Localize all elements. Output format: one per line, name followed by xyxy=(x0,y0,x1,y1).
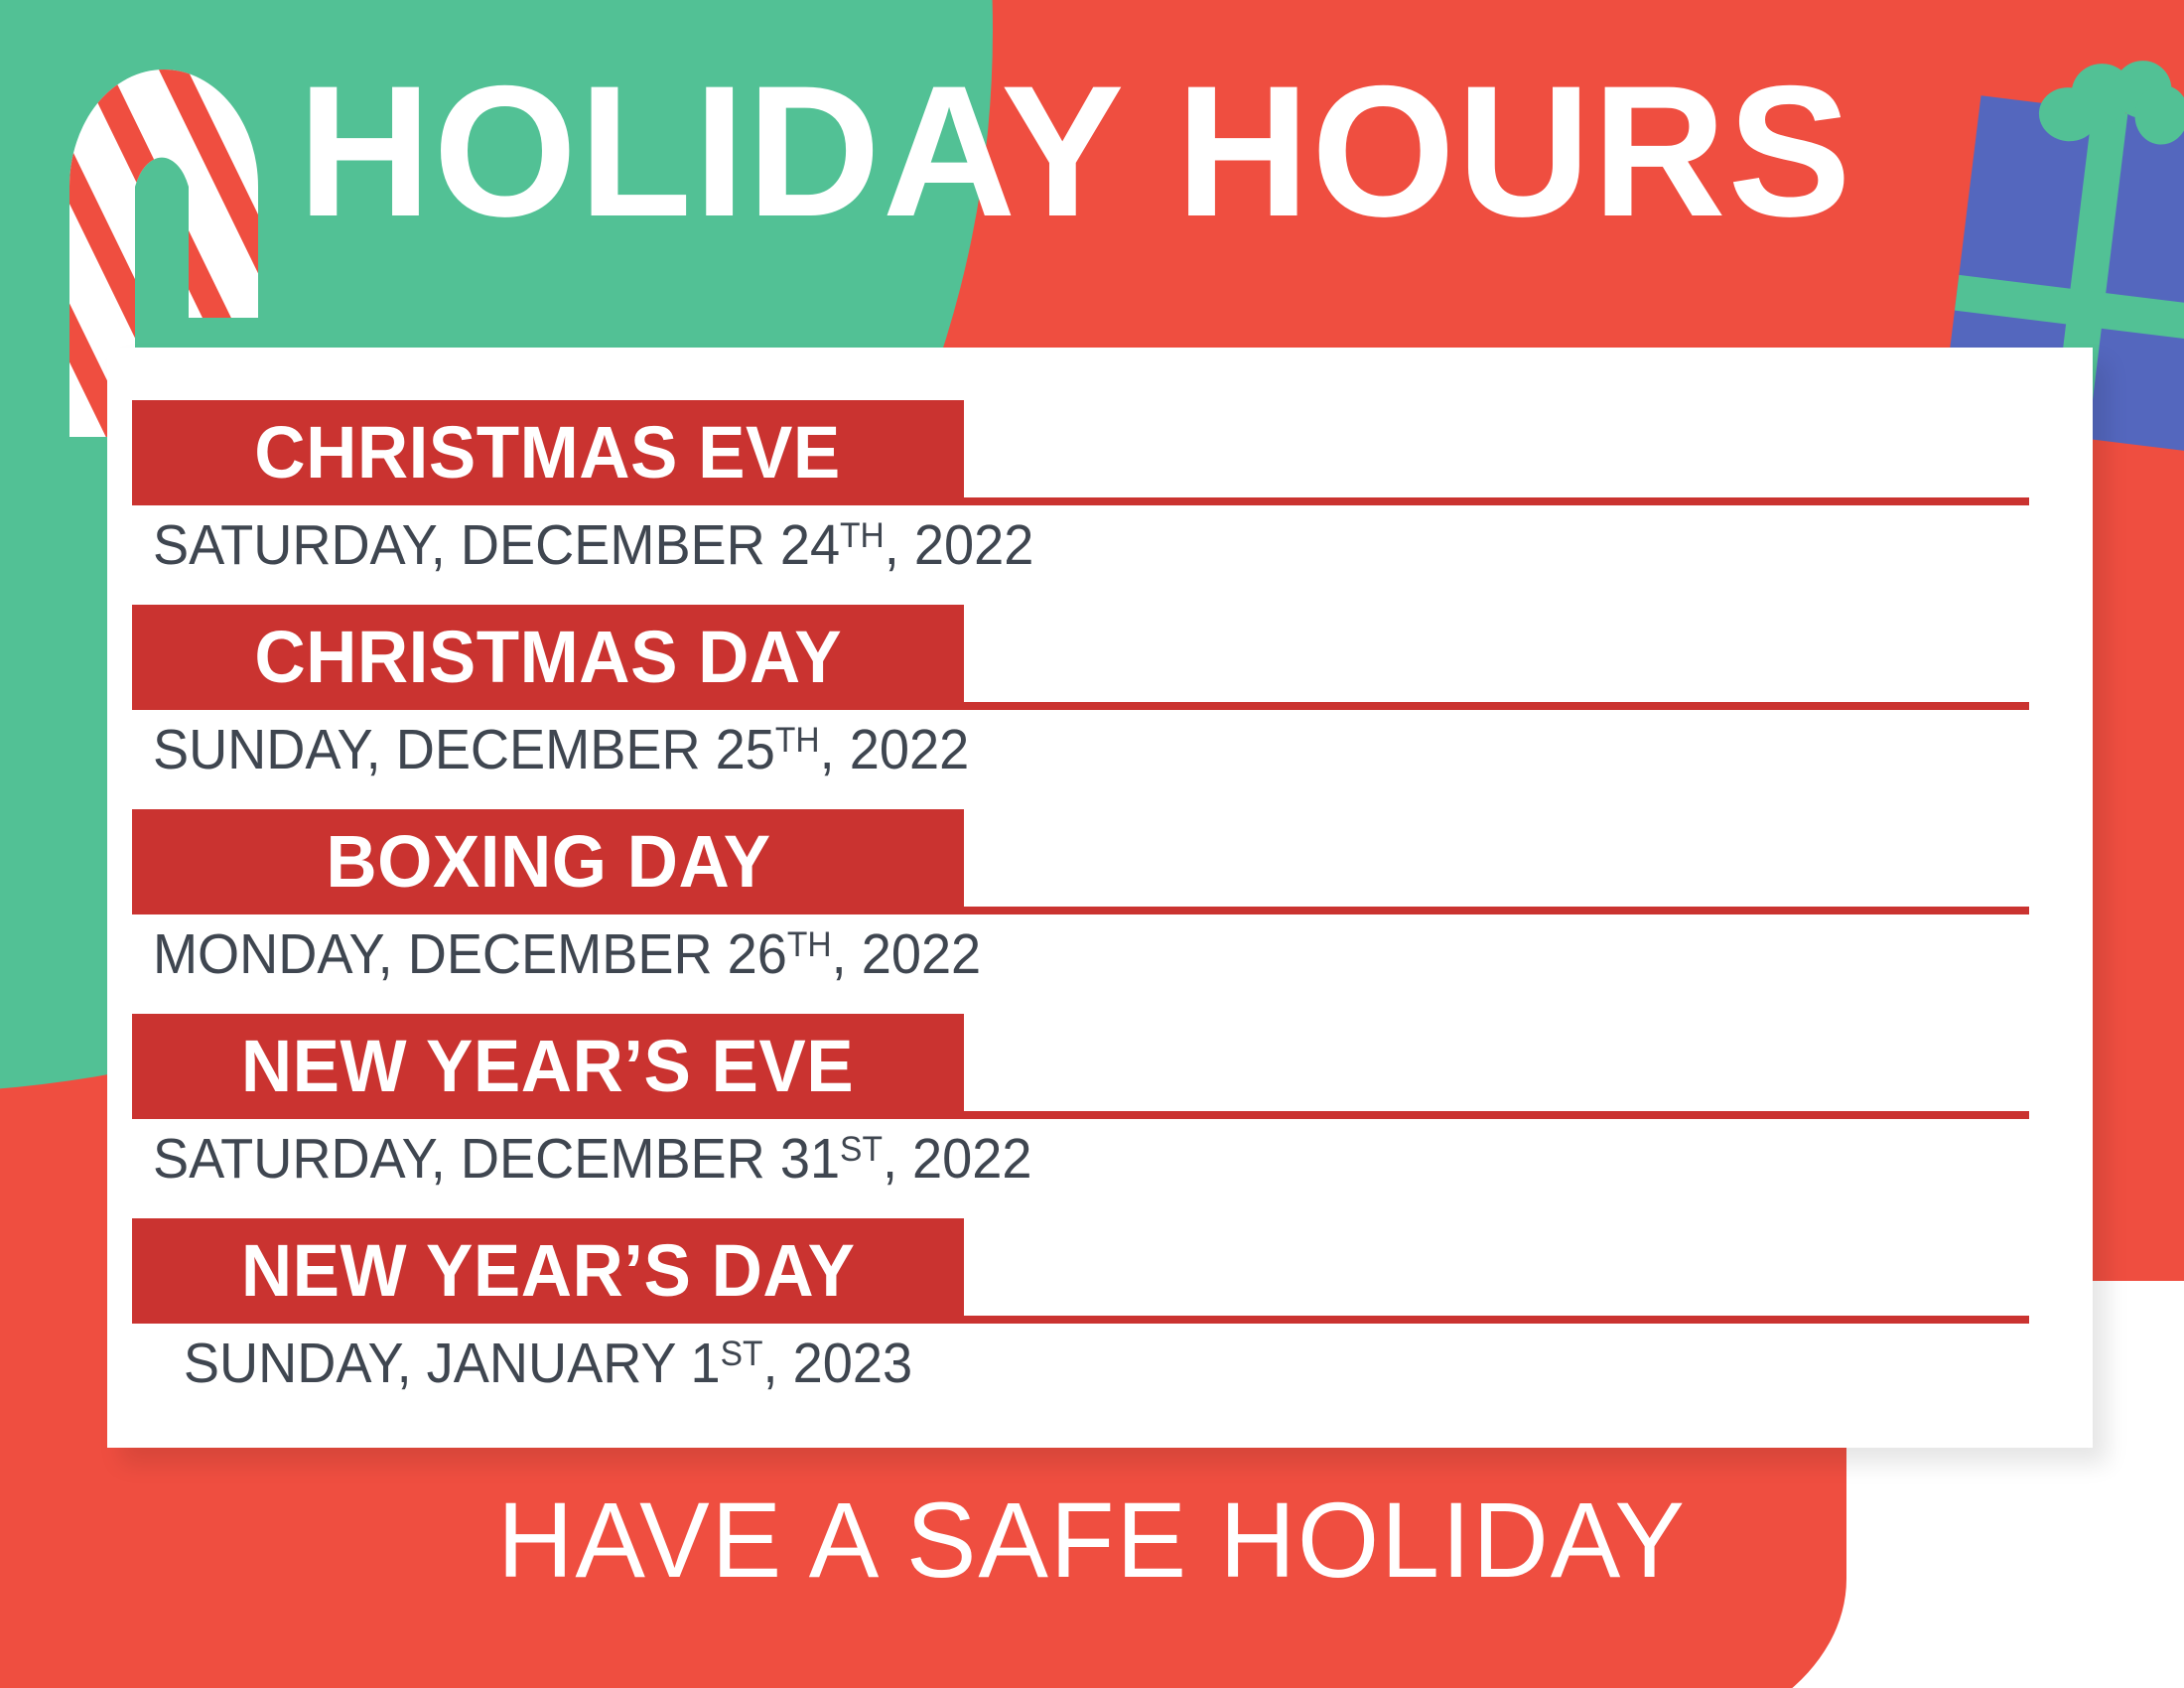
holiday-date-prefix: MONDAY, DECEMBER 26 xyxy=(153,922,787,986)
holiday-date-suffix: , 2022 xyxy=(832,922,982,986)
list-item: NEW YEAR’S DAY SUNDAY, JANUARY 1ST, 2023 xyxy=(107,1218,2093,1423)
holiday-date-ordinal: ST xyxy=(840,1130,883,1169)
holiday-date: SATURDAY, DECEMBER 31ST, 2022 xyxy=(153,1127,943,1191)
holiday-name: NEW YEAR’S DAY xyxy=(241,1232,856,1310)
holiday-hours-poster: HOLIDAY HOURS CHRISTMAS EVE SATURDAY, DE… xyxy=(0,0,2184,1688)
page-title: HOLIDAY HOURS xyxy=(298,52,1929,250)
hours-write-in-line[interactable] xyxy=(964,1111,2029,1119)
holiday-date-prefix: SATURDAY, DECEMBER 31 xyxy=(153,1127,840,1191)
holiday-date: MONDAY, DECEMBER 26TH, 2022 xyxy=(153,922,943,986)
holiday-date-ordinal: TH xyxy=(775,721,820,760)
hours-write-in-line[interactable] xyxy=(964,1316,2029,1324)
gift-bow xyxy=(2036,49,2184,156)
holiday-name-bar: BOXING DAY xyxy=(132,809,964,914)
holiday-name: CHRISTMAS EVE xyxy=(255,414,841,492)
holiday-name-bar: CHRISTMAS EVE xyxy=(132,400,964,505)
holiday-date-ordinal: TH xyxy=(840,516,885,555)
holiday-date-suffix: , 2022 xyxy=(820,718,970,781)
holiday-name: BOXING DAY xyxy=(326,823,770,901)
hours-list: CHRISTMAS EVE SATURDAY, DECEMBER 24TH, 2… xyxy=(107,348,2093,1423)
holiday-name-bar: NEW YEAR’S DAY xyxy=(132,1218,964,1324)
list-item: NEW YEAR’S EVE SATURDAY, DECEMBER 31ST, … xyxy=(107,1014,2093,1218)
holiday-date-suffix: , 2023 xyxy=(763,1332,913,1395)
holiday-date: SATURDAY, DECEMBER 24TH, 2022 xyxy=(153,513,943,577)
holiday-date: SUNDAY, DECEMBER 25TH, 2022 xyxy=(153,718,943,781)
holiday-date: SUNDAY, JANUARY 1ST, 2023 xyxy=(153,1332,943,1395)
holiday-date-ordinal: ST xyxy=(721,1335,763,1373)
holiday-date-suffix: , 2022 xyxy=(885,513,1034,577)
holiday-name: NEW YEAR’S EVE xyxy=(241,1028,854,1105)
hours-card: CHRISTMAS EVE SATURDAY, DECEMBER 24TH, 2… xyxy=(107,348,2093,1448)
holiday-date-prefix: SATURDAY, DECEMBER 24 xyxy=(153,513,840,577)
holiday-date-prefix: SUNDAY, DECEMBER 25 xyxy=(153,718,775,781)
list-item: BOXING DAY MONDAY, DECEMBER 26TH, 2022 xyxy=(107,809,2093,1014)
holiday-name: CHRISTMAS DAY xyxy=(254,619,842,696)
hours-write-in-line[interactable] xyxy=(964,497,2029,505)
holiday-name-bar: NEW YEAR’S EVE xyxy=(132,1014,964,1119)
list-item: CHRISTMAS EVE SATURDAY, DECEMBER 24TH, 2… xyxy=(107,400,2093,605)
holiday-date-ordinal: TH xyxy=(787,925,832,964)
holiday-name-bar: CHRISTMAS DAY xyxy=(132,605,964,710)
hours-write-in-line[interactable] xyxy=(964,907,2029,914)
hours-write-in-line[interactable] xyxy=(964,702,2029,710)
holiday-date-prefix: SUNDAY, JANUARY 1 xyxy=(184,1332,721,1395)
list-item: CHRISTMAS DAY SUNDAY, DECEMBER 25TH, 202… xyxy=(107,605,2093,809)
footer-message: HAVE A SAFE HOLIDAY xyxy=(22,1481,2162,1599)
holiday-date-suffix: , 2022 xyxy=(883,1127,1032,1191)
